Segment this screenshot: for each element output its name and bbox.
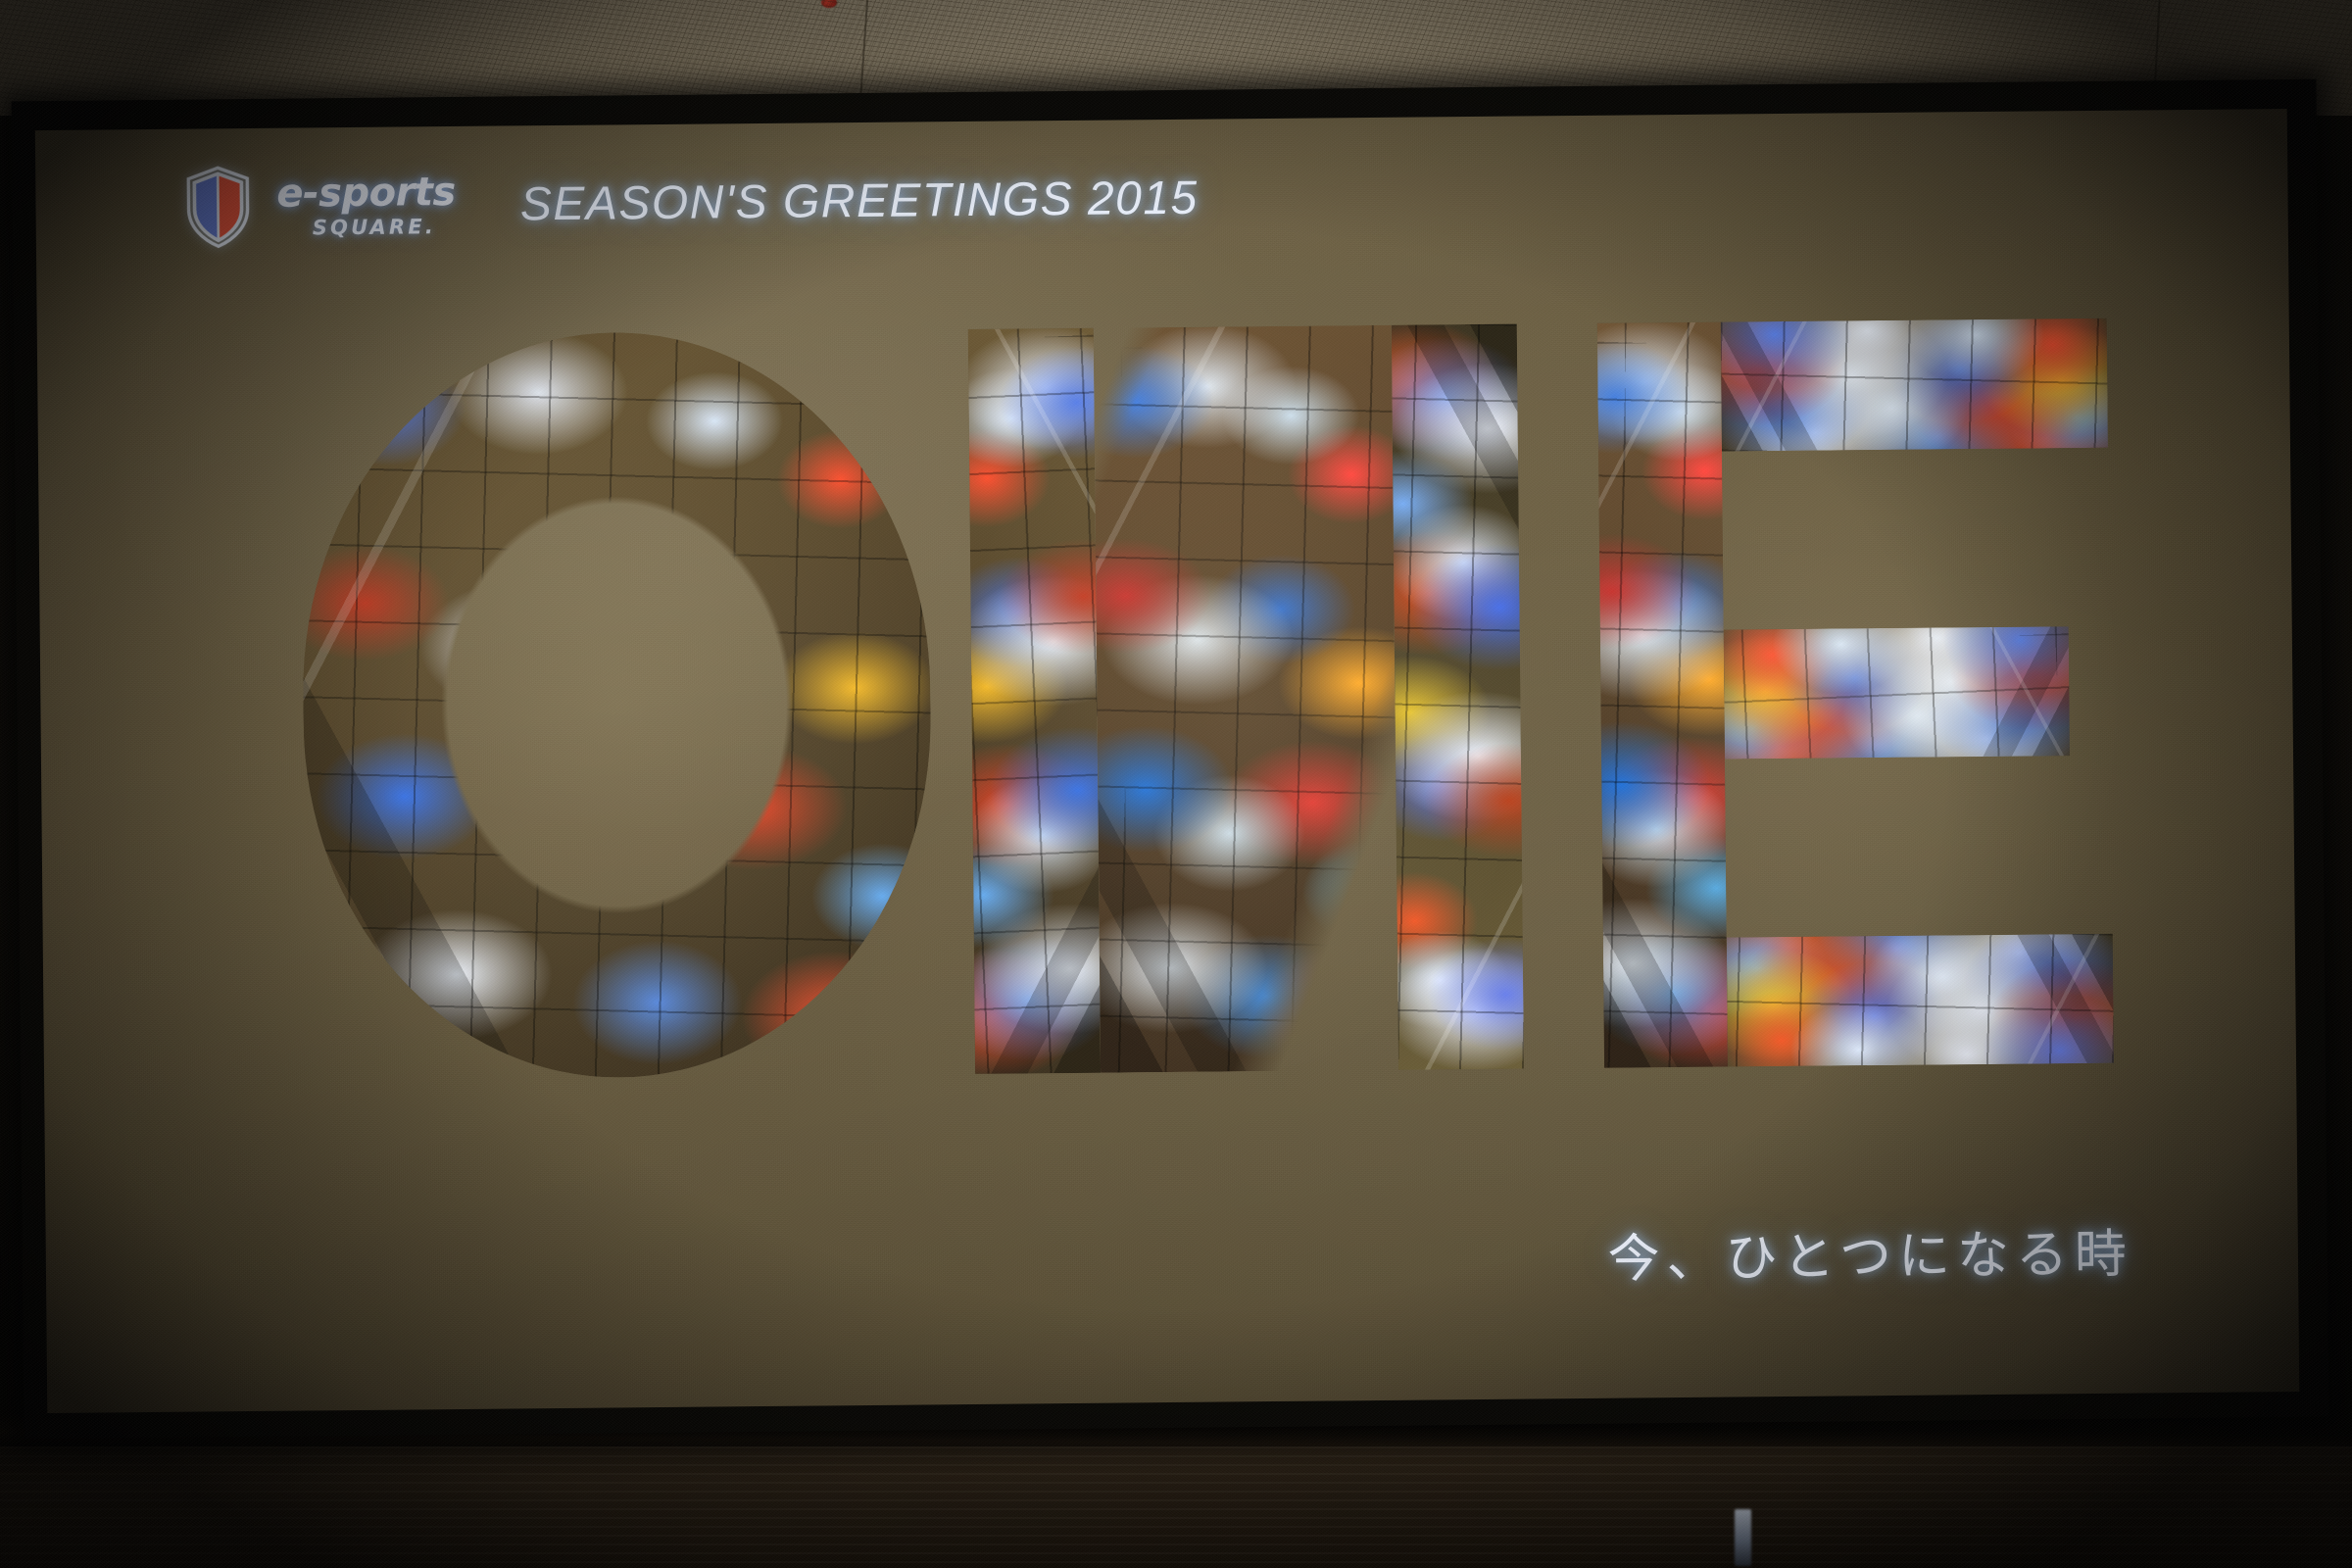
room-scene: e-sports SQUARE. SEASON'S GREETINGS 2015 [0,0,2352,1568]
letter-e-bottom-arm [1727,934,2114,1067]
letter-e-middle-arm [1724,626,2070,759]
brand-lockup: e-sports SQUARE. [276,172,456,239]
word-one-mosaic [37,301,2296,1087]
photo-collage-fill [1727,934,2114,1067]
letter-n-mosaic [968,324,1524,1074]
photo-collage-fill [1392,324,1524,1070]
page-title: SEASON'S GREETINGS 2015 [520,171,1199,231]
letter-n-right-stem [1392,324,1524,1070]
slide-header: e-sports SQUARE. SEASON'S GREETINGS 2015 [184,157,1199,249]
photo-collage-fill [1597,322,1728,1068]
letter-o-mosaic [300,329,934,1080]
brand-name-main: e-sports [276,172,456,214]
photo-collage-fill [300,329,934,1080]
letter-e-top-arm [1721,318,2108,452]
ceiling-sensor-icon [821,0,837,8]
shield-logo-icon [184,166,252,249]
brand-name-sub: SQUARE. [277,217,457,239]
photo-collage-fill [968,328,1101,1074]
letter-e-mosaic [1597,318,2114,1068]
foreground-object [1735,1509,1751,1566]
letter-o-ring [300,329,934,1080]
letter-n-diagonal [1094,325,1398,1073]
photo-collage-fill [1721,318,2108,452]
photo-collage-fill [1724,626,2070,759]
letter-e-stem [1597,322,1728,1068]
projection-screen: e-sports SQUARE. SEASON'S GREETINGS 2015 [12,79,2329,1440]
lower-wall-panel [0,1446,2352,1568]
slide-surface: e-sports SQUARE. SEASON'S GREETINGS 2015 [35,109,2299,1413]
letter-n-left-stem [968,328,1101,1074]
photo-collage-fill [1094,325,1398,1073]
tagline-text: 今、ひとつになる時 [1607,1213,2133,1293]
